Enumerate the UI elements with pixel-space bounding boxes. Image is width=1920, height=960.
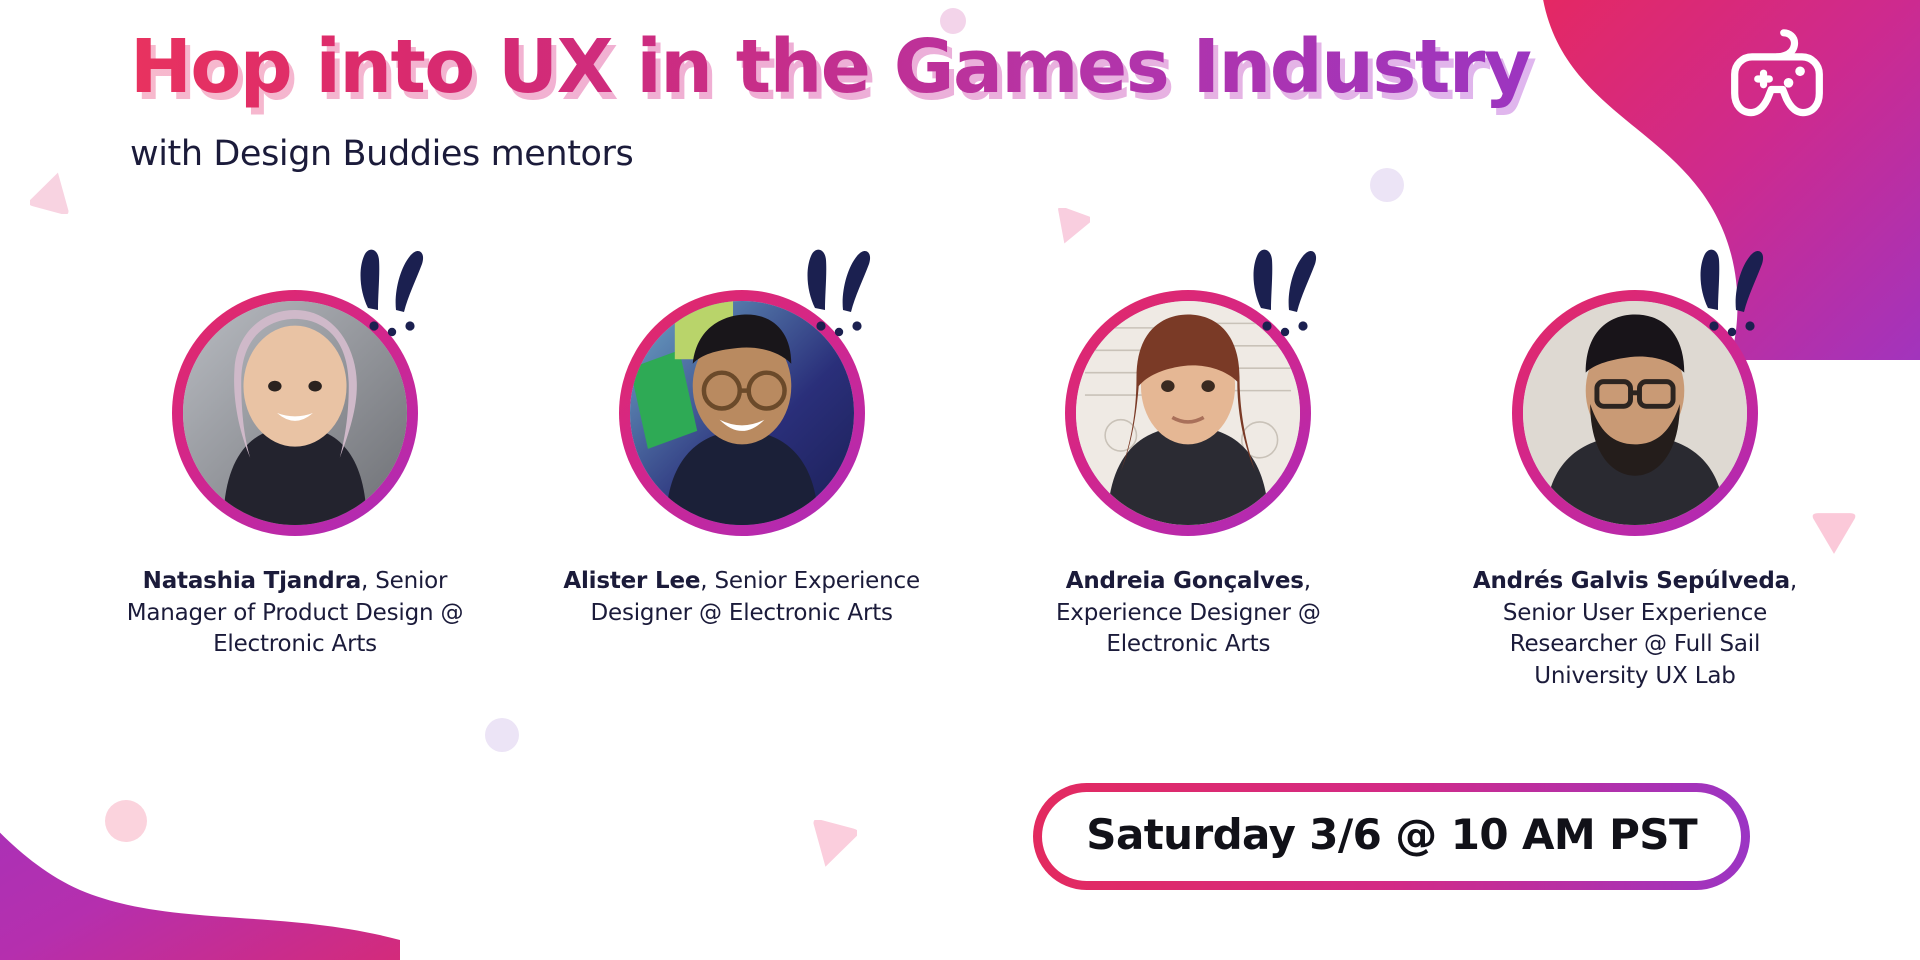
speaker-caption: Andreia Gonçalves, Experience Designer @…	[1003, 566, 1373, 661]
date-badge: Saturday 3/6 @ 10 AM PST	[1033, 783, 1750, 890]
speaker-card: Andreia Gonçalves, Experience Designer @…	[988, 290, 1388, 693]
speaker-card: Alister Lee, Senior Experience Designer …	[542, 290, 942, 693]
decor-dot	[105, 800, 147, 842]
speaker-name: Andreia Gonçalves	[1066, 568, 1304, 594]
speaker-separator: ,	[361, 568, 375, 594]
page-title-face: Hop into UX in the Games Industry	[130, 24, 1531, 110]
avatar	[1512, 290, 1758, 536]
decor-triangle	[30, 168, 76, 214]
speaker-name: Natashia Tjandra	[143, 568, 361, 594]
bunny-ears-doodle	[1237, 238, 1333, 342]
speaker-card: Natashia Tjandra, Senior Manager of Prod…	[95, 290, 495, 693]
speaker-name: Alister Lee	[563, 568, 700, 594]
decor-triangle	[1050, 208, 1090, 248]
bunny-ears-doodle	[344, 238, 440, 342]
avatar	[172, 290, 418, 536]
speaker-caption: Andrés Galvis Sepúlveda, Senior User Exp…	[1450, 566, 1820, 693]
gamepad-icon	[1718, 28, 1836, 128]
speaker-separator: ,	[1304, 568, 1311, 594]
poster-header: Hop into UX in the Games Industry Hop in…	[130, 28, 1530, 174]
speaker-caption: Alister Lee, Senior Experience Designer …	[557, 566, 927, 629]
speaker-separator: ,	[1790, 568, 1797, 594]
speaker-separator: ,	[700, 568, 714, 594]
bunny-ears-doodle	[1684, 238, 1780, 342]
speaker-role: Experience Designer @ Electronic Arts	[1056, 600, 1321, 658]
avatar	[1065, 290, 1311, 536]
page-title: Hop into UX in the Games Industry Hop in…	[130, 28, 1530, 108]
speakers-row: Natashia Tjandra, Senior Manager of Prod…	[95, 290, 1835, 693]
date-badge-label: Saturday 3/6 @ 10 AM PST	[1042, 792, 1741, 881]
speaker-card: Andrés Galvis Sepúlveda, Senior User Exp…	[1435, 290, 1835, 693]
decor-dot	[485, 718, 519, 752]
speaker-name: Andrés Galvis Sepúlveda	[1473, 568, 1790, 594]
speaker-caption: Natashia Tjandra, Senior Manager of Prod…	[110, 566, 480, 661]
avatar	[619, 290, 865, 536]
poster-canvas: Hop into UX in the Games Industry Hop in…	[0, 0, 1920, 960]
bunny-ears-doodle	[791, 238, 887, 342]
decor-triangle	[805, 820, 857, 872]
speaker-role: Senior User Experience Researcher @ Full…	[1503, 600, 1767, 689]
page-subtitle: with Design Buddies mentors	[130, 134, 1530, 174]
